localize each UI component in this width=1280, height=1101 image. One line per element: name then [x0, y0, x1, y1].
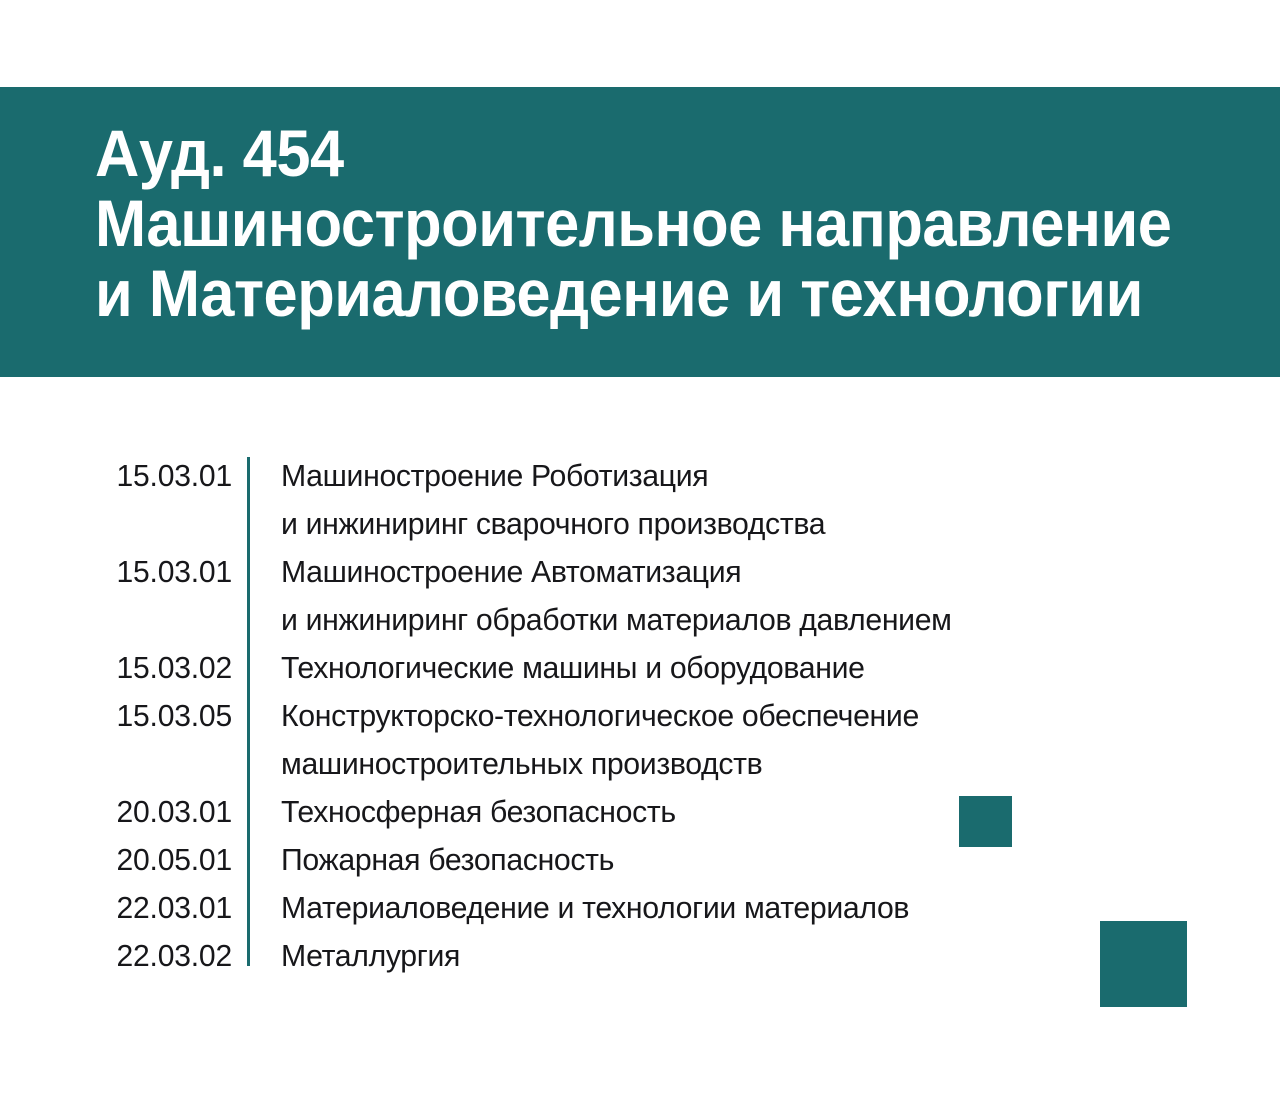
list-item: 15.03.01 Машиностроение Роботизация — [0, 452, 1280, 500]
header-title-block: Ауд. 454 Машиностроительное направление … — [95, 118, 1245, 328]
list-item: 20.03.01 Техносферная безопасность — [0, 788, 1280, 836]
list-item: 15.03.02 Технологические машины и оборуд… — [0, 644, 1280, 692]
program-name: Техносферная безопасность — [281, 788, 1236, 836]
program-code: 20.05.01 — [65, 836, 232, 884]
program-code: 15.03.01 — [65, 548, 232, 596]
decorative-square-large — [1100, 921, 1187, 1007]
program-name: Материаловедение и технологии материалов — [281, 884, 1236, 932]
page-title-line-2: Машиностроительное направление — [95, 188, 1165, 258]
list-item: 15.03.01 Машиностроение Автоматизация — [0, 548, 1280, 596]
program-code: 15.03.05 — [65, 692, 232, 740]
program-name: и инжиниринг сварочного производства — [281, 500, 1236, 548]
list-item: и инжиниринг обработки материалов давлен… — [0, 596, 1280, 644]
program-name: Конструкторско-технологическое обеспечен… — [281, 692, 1236, 740]
program-name: Машиностроение Автоматизация — [281, 548, 1236, 596]
list-item: 20.05.01 Пожарная безопасность — [0, 836, 1280, 884]
list-item: и инжиниринг сварочного производства — [0, 500, 1280, 548]
page-title-line-3: и Материаловедение и технологии — [95, 258, 1165, 328]
program-code: 20.03.01 — [65, 788, 232, 836]
program-name: и инжиниринг обработки материалов давлен… — [281, 596, 1236, 644]
list-item: машиностроительных производств — [0, 740, 1280, 788]
decorative-square-small — [959, 796, 1012, 847]
list-item: 15.03.05 Конструкторско-технологическое … — [0, 692, 1280, 740]
program-name: Технологические машины и оборудование — [281, 644, 1236, 692]
program-name: Металлургия — [281, 932, 1236, 980]
page-title-room: Ауд. 454 — [95, 118, 1165, 188]
program-code: 15.03.01 — [65, 452, 232, 500]
list-item: 22.03.02 Металлургия — [0, 932, 1280, 980]
program-code: 22.03.02 — [65, 932, 232, 980]
list-item: 22.03.01 Материаловедение и технологии м… — [0, 884, 1280, 932]
program-code: 15.03.02 — [65, 644, 232, 692]
header-banner: Ауд. 454 Машиностроительное направление … — [0, 87, 1280, 377]
program-name: Машиностроение Роботизация — [281, 452, 1236, 500]
program-list: 15.03.01 Машиностроение Роботизация и ин… — [0, 452, 1280, 980]
program-name: Пожарная безопасность — [281, 836, 1236, 884]
program-name: машиностроительных производств — [281, 740, 1236, 788]
program-code: 22.03.01 — [65, 884, 232, 932]
